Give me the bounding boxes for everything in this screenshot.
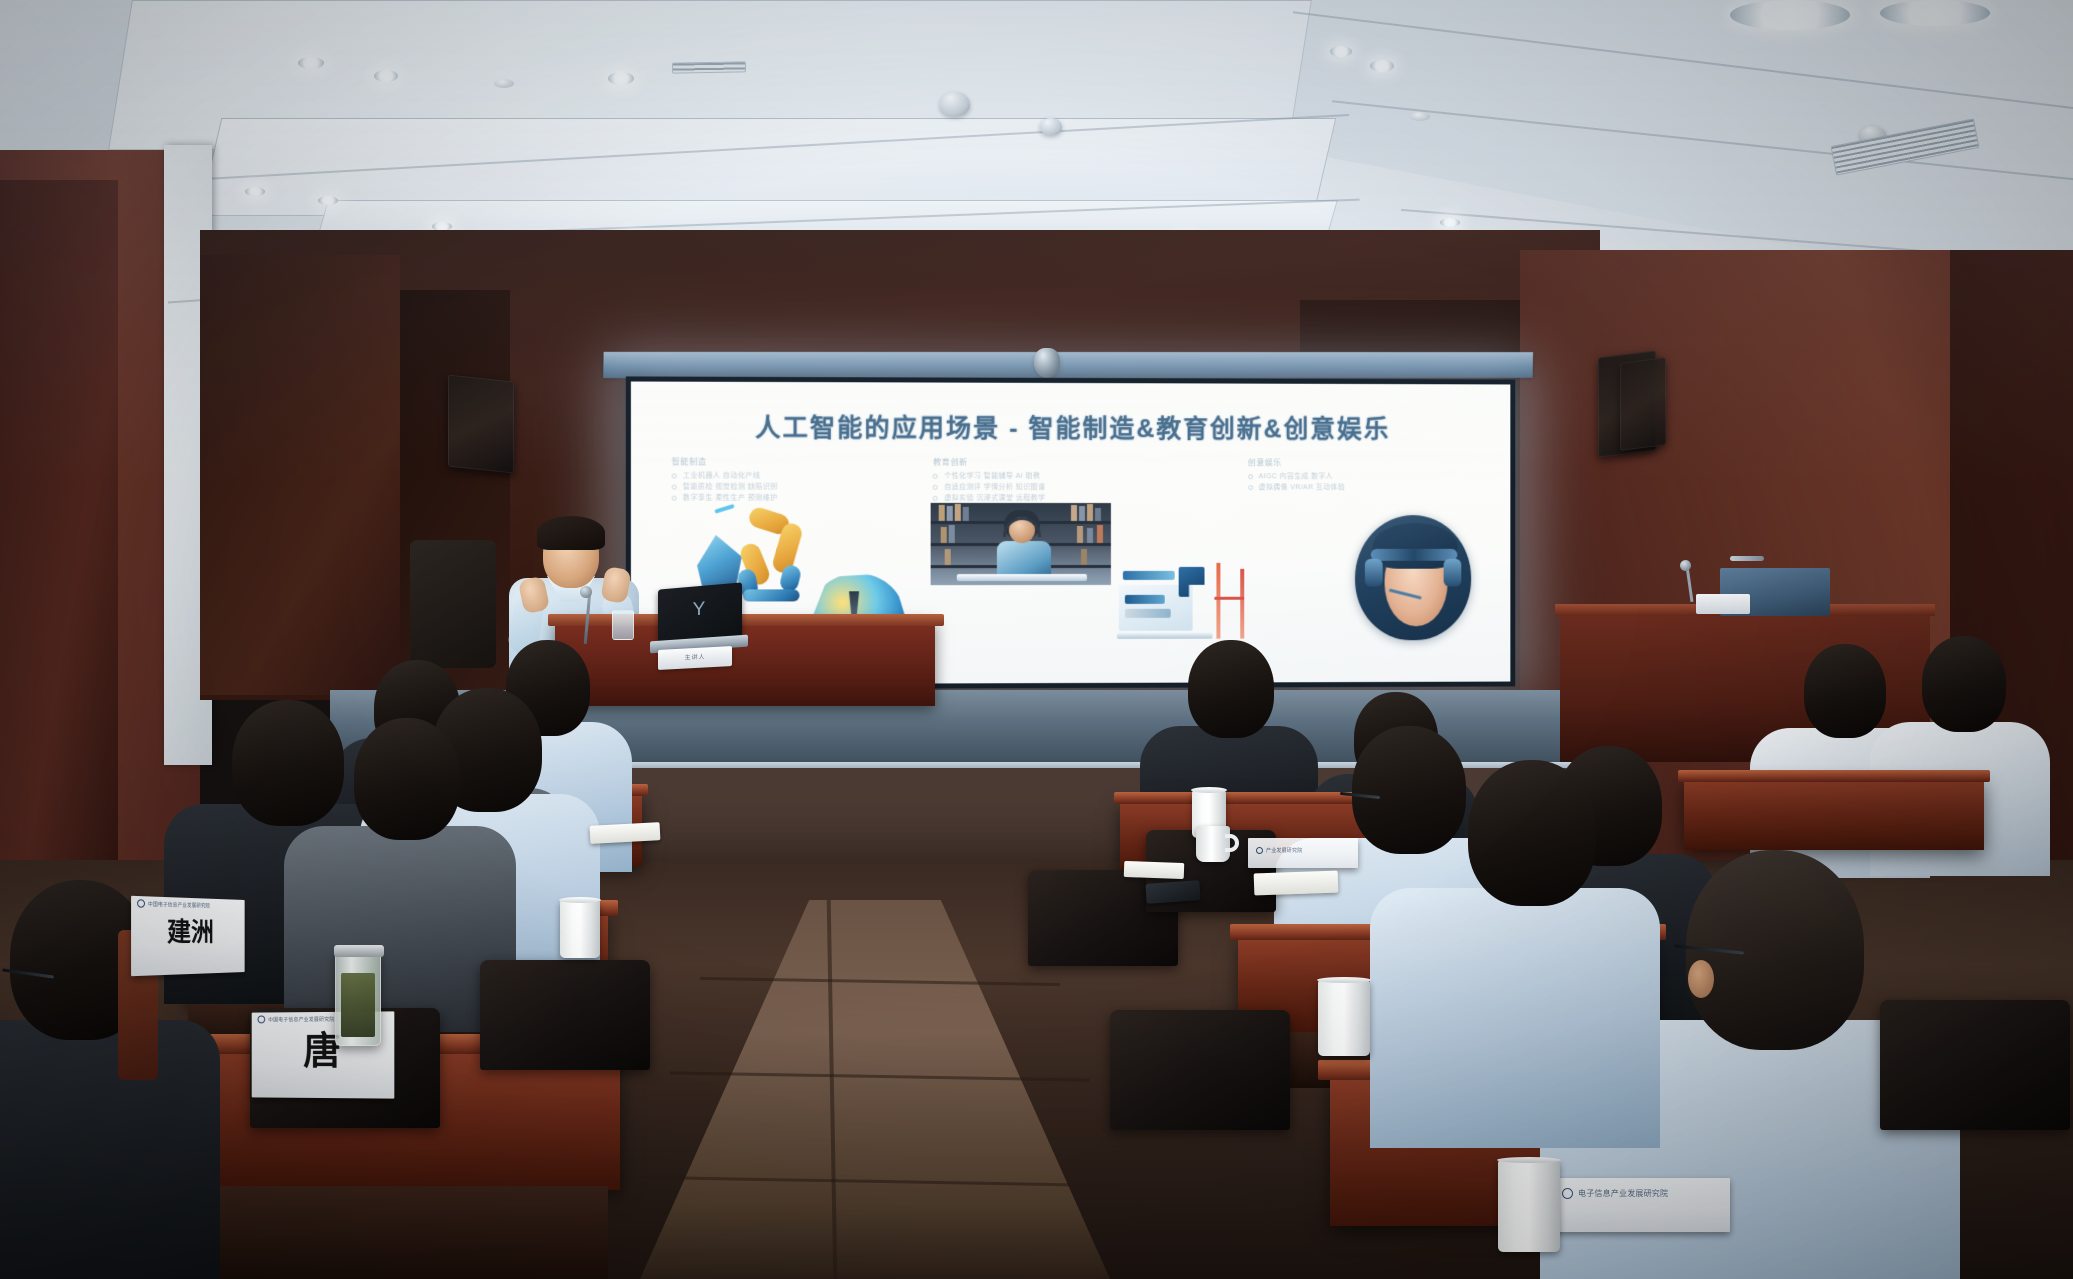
laptop-logo-icon: Y	[690, 599, 708, 621]
presenter-chair	[410, 540, 496, 668]
design-bar	[1125, 595, 1165, 604]
slide-column-manufacturing: 智能制造 工业机器人 自动化产线 智能质检 视觉检测 缺陷识别 数字孪生 柔性生…	[672, 456, 901, 504]
desk-top	[1678, 770, 1990, 782]
book-icon	[1077, 526, 1083, 543]
placard-logo-row: 电子信息产业发展研究院	[1550, 1178, 1730, 1199]
student-body	[997, 541, 1051, 575]
air-vent-icon	[672, 61, 746, 73]
vr-earcup-icon	[1365, 559, 1383, 587]
head	[354, 718, 460, 840]
placard-jianzhou: 中国电子信息产业发展研究院 建洲	[131, 896, 245, 976]
slide-column-education: 教育创新 个性化学习 智能辅导 AI 助教 自适应测评 学情分析 知识图谱 虚拟…	[933, 457, 1216, 504]
org-logo-icon	[1562, 1188, 1573, 1199]
slide-column-entertainment: 创意娱乐 AIGC 内容生成 数字人 虚拟偶像 VR/AR 互动体验	[1248, 457, 1471, 504]
headphone-icon	[1003, 517, 1041, 537]
dome-camera-icon	[1034, 348, 1060, 378]
downlight-icon	[1440, 218, 1460, 227]
screen-top-bezel	[603, 352, 1533, 378]
smoke-detector-icon	[494, 79, 514, 88]
study-desk	[957, 574, 1087, 581]
spark-icon	[714, 504, 735, 514]
paper-cup	[1318, 980, 1370, 1056]
bullet-dot-icon	[933, 474, 938, 479]
slide-bullet-columns: 智能制造 工业机器人 自动化产线 智能质检 视觉检测 缺陷识别 数字孪生 柔性生…	[672, 456, 1471, 504]
book-icon	[955, 504, 961, 521]
downlight-icon	[318, 196, 338, 205]
book-icon	[1081, 549, 1087, 565]
design-bar	[1125, 609, 1171, 618]
book-icon	[1097, 525, 1103, 543]
wall-speaker-icon	[1620, 357, 1666, 451]
podium-nameplate	[1696, 594, 1750, 614]
downlight-icon	[608, 72, 634, 85]
slide-column-heading: 教育创新	[933, 457, 1216, 468]
shoulders	[1370, 888, 1660, 1148]
ceiling-speaker-icon	[1040, 118, 1062, 135]
head	[1468, 760, 1596, 906]
vr-earcup-icon	[1444, 559, 1462, 587]
book-icon	[947, 506, 953, 521]
book-icon	[1087, 504, 1093, 521]
slide-bullet-text: 自适应测评 学情分析 知识图谱	[944, 482, 1045, 493]
robot-arm-base	[743, 589, 800, 601]
downlight-icon	[374, 70, 398, 82]
notebook	[1124, 861, 1185, 879]
notebook	[1254, 871, 1339, 896]
chair[interactable]	[1880, 1000, 2070, 1130]
slide-column-heading: 智能制造	[672, 456, 901, 467]
slide-bullet: 虚拟偶像 VR/AR 互动体验	[1248, 482, 1471, 493]
placard-name: 建洲	[131, 907, 245, 958]
wall-speaker-icon	[448, 375, 514, 474]
placard-org: 产业发展研究院	[1266, 847, 1302, 854]
phone[interactable]	[1145, 880, 1200, 904]
ceiling-speaker-icon	[940, 92, 970, 116]
placard-desk-right: 电子信息产业发展研究院	[1550, 1178, 1730, 1232]
head	[1804, 644, 1886, 738]
chair[interactable]	[480, 960, 650, 1070]
downlight-icon	[298, 57, 324, 69]
notebook	[590, 822, 661, 844]
placard-org: 中国电子信息产业发展研究院	[268, 1015, 334, 1022]
student-study-illustration	[931, 503, 1111, 585]
tea-leaves	[341, 973, 375, 1037]
org-logo-icon	[257, 1015, 265, 1023]
presenter-hair	[537, 516, 605, 550]
placard-logo-row: 产业发展研究院	[1248, 838, 1358, 854]
slide-bullet: 个性化学习 智能辅导 AI 助教	[933, 471, 1216, 482]
paper-cup	[1498, 1160, 1560, 1252]
slide-bullet-text: 智能质检 视觉检测 缺陷识别	[683, 482, 778, 493]
slide-bullet-text: AIGC 内容生成 数字人	[1259, 471, 1333, 482]
design-tools-illustration	[1117, 563, 1266, 649]
presenter-nameplate-text: 主讲人	[658, 646, 732, 670]
slide-title: 人工智能的应用场景 - 智能制造&教育创新&创意娱乐	[631, 408, 1510, 446]
downlight-icon	[1730, 0, 1850, 30]
podium-microphone-icon	[1680, 560, 1691, 571]
water-glass	[612, 610, 634, 640]
bullet-dot-icon	[1248, 474, 1253, 479]
book-icon	[963, 507, 969, 521]
book-icon	[941, 527, 947, 543]
coffee-mug	[1196, 826, 1230, 862]
bullet-dot-icon	[933, 485, 938, 490]
head	[1352, 726, 1466, 854]
bullet-dot-icon	[1248, 485, 1253, 490]
slide-bullet-text: 个性化学习 智能辅导 AI 助教	[944, 471, 1040, 482]
microphone-icon	[580, 586, 592, 598]
book-icon	[1079, 506, 1085, 521]
book-icon	[1087, 528, 1093, 543]
tea-jar	[335, 950, 381, 1046]
head	[1922, 636, 2006, 732]
podium-desk-lamp-icon	[1730, 556, 1764, 561]
chair[interactable]	[1110, 1010, 1290, 1130]
slide-bullet: 工业机器人 自动化产线	[672, 470, 901, 481]
org-logo-icon	[137, 899, 145, 908]
presenter-nameplate: 主讲人	[658, 646, 732, 670]
book-icon	[939, 505, 945, 521]
ruler-icon	[1216, 563, 1220, 639]
downlight-icon	[1880, 0, 1990, 26]
downlight-icon	[1370, 60, 1394, 72]
placard-desk-mid: 产业发展研究院	[1248, 838, 1358, 868]
head	[232, 700, 344, 826]
downlight-icon	[1330, 46, 1352, 57]
slide-bullet: 智能质检 视觉检测 缺陷识别	[672, 482, 901, 493]
org-logo-icon	[1256, 847, 1263, 854]
book-icon	[1095, 508, 1101, 521]
tea-jar-lid	[334, 945, 384, 957]
slide-bullet: 自适应测评 学情分析 知识图谱	[933, 482, 1216, 493]
bullet-dot-icon	[672, 473, 677, 478]
ruler-icon	[1240, 569, 1244, 639]
placard-org: 电子信息产业发展研究院	[1578, 1188, 1668, 1199]
wall-left-dark-panel	[0, 180, 118, 900]
head-table-top	[548, 614, 944, 626]
shoulders	[0, 1020, 220, 1279]
paper-cup	[560, 900, 600, 958]
book-icon	[945, 549, 951, 565]
smoke-detector-icon	[1410, 112, 1430, 121]
conference-room-scene: 人工智能的应用场景 - 智能制造&教育创新&创意娱乐 智能制造 工业机器人 自动…	[0, 0, 2073, 1279]
slide-column-heading: 创意娱乐	[1248, 457, 1471, 468]
slide-bullet: AIGC 内容生成 数字人	[1248, 471, 1471, 482]
design-table	[1117, 633, 1213, 639]
downlight-icon	[245, 187, 265, 196]
slide-bullet-text: 工业机器人 自动化产线	[683, 470, 761, 481]
desk	[1684, 778, 1984, 850]
slide-bullet-text: 虚拟偶像 VR/AR 互动体验	[1259, 482, 1345, 493]
wall-panel	[200, 255, 400, 695]
book-icon	[1071, 505, 1077, 521]
bullet-dot-icon	[672, 485, 677, 490]
design-bar	[1123, 571, 1175, 580]
ruler-crossbar	[1214, 597, 1244, 600]
vr-headset-woman-illustration	[1355, 515, 1471, 640]
vr-headband-icon	[1371, 549, 1458, 561]
book-icon	[949, 525, 955, 543]
head	[1188, 640, 1274, 738]
ear	[1688, 960, 1714, 998]
